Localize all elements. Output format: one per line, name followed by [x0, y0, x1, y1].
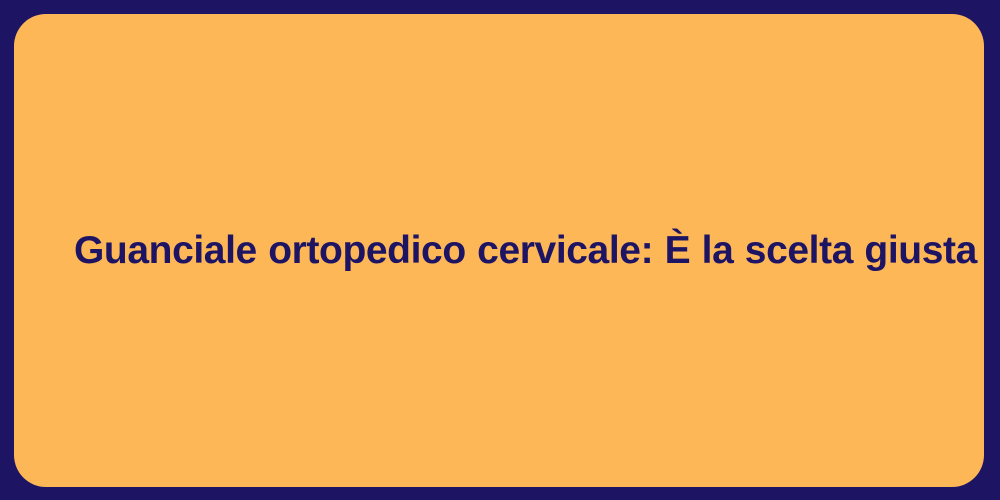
banner-outer-frame: Guanciale ortopedico cervicale: È la sce…: [0, 0, 1000, 500]
page-title: Guanciale ortopedico cervicale: È la sce…: [14, 228, 984, 274]
banner-card: Guanciale ortopedico cervicale: È la sce…: [14, 14, 984, 487]
